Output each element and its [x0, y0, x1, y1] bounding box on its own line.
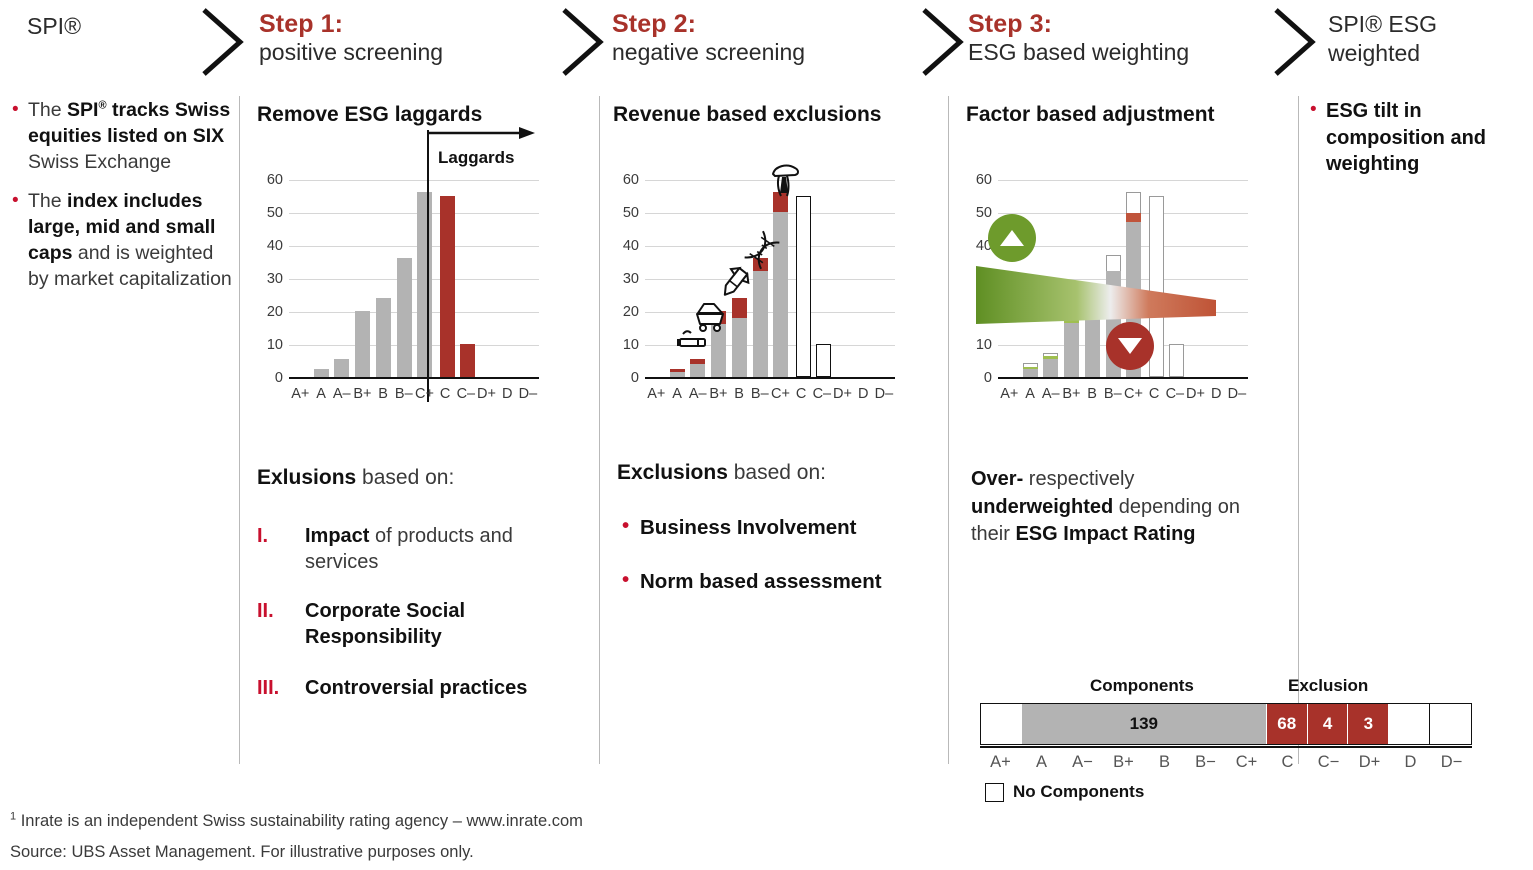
step2-exclusions-rest: based on: [728, 461, 826, 484]
chart1-ytick-60: 60 [257, 172, 283, 188]
chart3-x-axis [998, 377, 1248, 379]
legend-exclusion-label: Exclusion [1288, 676, 1368, 696]
chart1-bar-C+ [417, 192, 432, 377]
seg-retained [732, 318, 747, 377]
chart2-x-axis [645, 377, 895, 379]
footnote-text: Inrate is an independent Swiss sustainab… [16, 812, 583, 830]
step2-bullet-list: Business Involvement Norm based assessme… [620, 516, 920, 624]
chart3-ytick-50: 50 [966, 205, 992, 221]
chart3-ytick-10: 10 [966, 337, 992, 353]
intro-bullet-list: The SPI® tracks Swiss equities listed on… [10, 98, 232, 305]
seg-base [1023, 369, 1038, 377]
chevron-right-icon-3 [916, 6, 972, 78]
spi-title: SPI® [27, 12, 81, 41]
chart1-xlabel-C: C [435, 386, 456, 402]
legend-bar: 139 68 4 3 [980, 703, 1472, 745]
chart3-xlabel-B-: B– [1102, 386, 1123, 402]
chart1-xlabel-A+: A+ [290, 386, 311, 402]
legend-xlabel-D-: D− [1431, 753, 1472, 772]
chart1-x-axis [289, 377, 539, 379]
result-bullet-1: ESG tilt in composition and weighting [1308, 98, 1523, 178]
chart2-ytick-20: 20 [613, 304, 639, 320]
item-bold: Impact [305, 525, 369, 547]
underweight-down-arrow [1106, 322, 1154, 370]
step1-exclusions-rest: based on: [356, 466, 454, 489]
roman-numeral: III. [257, 675, 279, 701]
chart2-bar-A [670, 369, 685, 377]
legend-xlabel-D+: D+ [1349, 753, 1390, 772]
chart3-xlabel-D-: D– [1227, 386, 1248, 402]
result-title-line1: SPI® ESG [1328, 10, 1437, 39]
chart3-xlabel-C+: C+ [1123, 386, 1144, 402]
chart2-xlabel-D: D [853, 386, 874, 402]
chart2-x-labels: A+AA–B+BB–C+CC–D+DD– [646, 386, 894, 402]
nuclear-explosion-icon [765, 160, 805, 205]
desc-part-over: Over- [971, 468, 1023, 490]
chart1-xlabel-D-: D– [518, 386, 539, 402]
seg-excluded [670, 369, 685, 372]
no-components-swatch [985, 783, 1004, 802]
result-title-line2: weighted [1328, 39, 1437, 68]
chart2-xlabel-C: C [791, 386, 812, 402]
overweight-up-arrow [988, 214, 1036, 262]
legend-xlabel-B: B [1144, 753, 1185, 772]
chart3-x-labels: A+AA–B+BB–C+CC–D+DD– [999, 386, 1247, 402]
chart3-ytick-0: 0 [966, 370, 992, 386]
divider-2 [599, 96, 600, 764]
legend-baseline [980, 746, 1472, 748]
laggards-arrow-icon [427, 126, 537, 145]
col-header-step1: Step 1: positive screening [259, 10, 443, 67]
chart2-xlabel-C-: C– [812, 386, 833, 402]
col-header-step3: Step 3: ESG based weighting [968, 10, 1189, 67]
chart3-xlabel-B: B [1082, 386, 1103, 402]
legend-xlabel-C: C [1267, 753, 1308, 772]
chart2-ytick-0: 0 [613, 370, 639, 386]
legend-components-label: Components [1090, 676, 1194, 696]
chart2-bar-A- [690, 359, 705, 377]
seg-overweight [1043, 356, 1058, 359]
step2-subtitle: negative screening [612, 39, 805, 67]
legend-xlabel-B-: B− [1185, 753, 1226, 772]
seg-excluded [690, 359, 705, 364]
chart2-bar-C+ [773, 192, 788, 377]
legend-xlabel-A+: A+ [980, 753, 1021, 772]
chart-revenue-based-exclusions: 60 50 40 30 20 10 0 [613, 170, 898, 405]
chart2-bar-C- [816, 344, 831, 377]
footer-line-2: Source: UBS Asset Management. For illust… [10, 837, 710, 868]
step3-title: Step 3: [968, 10, 1189, 38]
chart2-ytick-40: 40 [613, 238, 639, 254]
roman-numeral: I. [257, 523, 268, 549]
step1-exclusions-heading: Exlusions based on: [257, 466, 454, 490]
divider-1 [239, 96, 240, 764]
step2-title: Step 2: [612, 10, 805, 38]
chart3-xlabel-A+: A+ [999, 386, 1020, 402]
chart3-bar-A- [1043, 356, 1058, 377]
intro-bullet-1: The SPI® tracks Swiss equities listed on… [10, 98, 232, 176]
chart1-xlabel-C+: C+ [414, 386, 435, 402]
chart1-ytick-10: 10 [257, 337, 283, 353]
legend-value-components: 139 [1130, 714, 1158, 734]
list-item: Norm based assessment [620, 570, 920, 594]
legend-no-components: No Components [985, 782, 1144, 802]
chart1-xlabel-B-: B– [393, 386, 414, 402]
item-bold: Controversial practices [305, 677, 527, 699]
chart1-xlabel-C-: C– [456, 386, 477, 402]
chart1-bar-C [440, 196, 455, 377]
chart2-xlabel-D+: D+ [832, 386, 853, 402]
laggards-threshold-line [427, 130, 429, 402]
legend-xlabel-D: D [1390, 753, 1431, 772]
legend-cell-C-: 4 [1308, 704, 1349, 744]
chart1-bar-B+ [355, 311, 370, 377]
seg-retained [670, 372, 685, 377]
chart2-xlabel-A: A [667, 386, 688, 402]
chart1-bar-B [376, 298, 391, 377]
chart3-bar-A [1023, 367, 1038, 377]
chart2-ytick-10: 10 [613, 337, 639, 353]
result-bullet-list: ESG tilt in composition and weighting [1308, 98, 1523, 191]
slide-root: SPI® Step 1: positive screening Step 2: … [0, 0, 1533, 870]
col-header-step2: Step 2: negative screening [612, 10, 805, 67]
no-components-label: No Components [1013, 782, 1144, 802]
legend-cell-D+: 3 [1348, 704, 1389, 744]
chart1-xlabel-D: D [497, 386, 518, 402]
chart1-bar-B- [397, 258, 412, 377]
chart3-xlabel-D+: D+ [1185, 386, 1206, 402]
chart1-bar-A [314, 369, 329, 377]
chart1-x-labels: A+AA–B+BB–C+CC–D+DD– [290, 386, 538, 402]
step1-title: Step 1: [259, 10, 443, 38]
col-header-spi: SPI® [27, 12, 81, 41]
seg-overweight [1023, 367, 1038, 370]
item-bold: Corporate Social Responsibility [305, 600, 465, 648]
chart1-ytick-30: 30 [257, 271, 283, 287]
desc-part-underweighted: underweighted [971, 496, 1113, 518]
chart2-bar-C [796, 196, 811, 377]
seg-retained [690, 364, 705, 377]
chart3-outline-C- [1169, 344, 1184, 377]
footer-line-1: 1 Inrate is an independent Swiss sustain… [10, 806, 710, 837]
roman-numeral: II. [257, 598, 274, 624]
chart1-xlabel-D+: D+ [476, 386, 497, 402]
chart2-xlabel-C+: C+ [770, 386, 791, 402]
step3-panel-heading: Factor based adjustment [966, 103, 1215, 127]
list-item: II. Corporate Social Responsibility [257, 598, 587, 651]
step2-panel-heading: Revenue based exclusions [613, 103, 881, 127]
list-item: Business Involvement [620, 516, 920, 540]
chart1-ytick-40: 40 [257, 238, 283, 254]
footer-notes: 1 Inrate is an independent Swiss sustain… [10, 806, 710, 869]
chart2-xlabel-A+: A+ [646, 386, 667, 402]
chevron-right-icon-4 [1268, 6, 1324, 78]
legend-value-C: 68 [1277, 714, 1296, 734]
chart3-xlabel-B+: B+ [1061, 386, 1082, 402]
col-header-result: SPI® ESG weighted [1328, 10, 1437, 68]
step1-subtitle: positive screening [259, 39, 443, 67]
step2-exclusions-heading: Exclusions based on: [617, 461, 826, 485]
legend-value-D+: 3 [1364, 714, 1373, 734]
chart1-bar-C- [460, 344, 475, 377]
chart2-xlabel-A-: A– [687, 386, 708, 402]
chart3-xlabel-C-: C– [1165, 386, 1186, 402]
chart2-ytick-50: 50 [613, 205, 639, 221]
step1-exclusions-bold: Exlusions [257, 466, 356, 489]
chart2-ytick-30: 30 [613, 271, 639, 287]
legend-cell-C: 68 [1267, 704, 1308, 744]
step3-description: Over- respectively underweighted dependi… [971, 466, 1271, 549]
chart1-ytick-50: 50 [257, 205, 283, 221]
legend-cell-components: 139 [1022, 704, 1267, 744]
chart1-ytick-20: 20 [257, 304, 283, 320]
chart2-xlabel-B-: B– [749, 386, 770, 402]
chart1-xlabel-B: B [373, 386, 394, 402]
legend-x-labels: A+ A A− B+ B B− C+ C C− D+ D D− [980, 753, 1472, 772]
chart2-xlabel-D-: D– [874, 386, 895, 402]
legend-value-C-: 4 [1323, 714, 1332, 734]
list-item: I. Impact of products and services [257, 523, 587, 576]
legend-cell-D- [1430, 704, 1471, 744]
chart2-ytick-60: 60 [613, 172, 639, 188]
gmo-dna-icon [742, 230, 782, 275]
item-label: Business Involvement [640, 516, 856, 539]
legend-xlabel-C-: C− [1308, 753, 1349, 772]
chart3-xlabel-D: D [1206, 386, 1227, 402]
chevron-right-icon-2 [556, 6, 612, 78]
legend-xlabel-B+: B+ [1103, 753, 1144, 772]
chart1-xlabel-A-: A– [331, 386, 352, 402]
chart3-xlabel-C: C [1144, 386, 1165, 402]
chart1-ytick-0: 0 [257, 370, 283, 386]
seg-base [1064, 323, 1079, 377]
desc-part-rating: ESG Impact Rating [1015, 523, 1195, 545]
result-bullet-bold: ESG [1326, 100, 1368, 122]
seg-base [1043, 359, 1058, 377]
list-item: III. Controversial practices [257, 675, 587, 701]
legend-cell-A+ [981, 704, 1022, 744]
step2-exclusions-bold: Exclusions [617, 461, 728, 484]
desc-part-1: respectively [1023, 468, 1134, 490]
step1-roman-list: I. Impact of products and services II. C… [257, 523, 587, 723]
chart1-xlabel-A: A [311, 386, 332, 402]
legend-xlabel-C+: C+ [1226, 753, 1267, 772]
chart3-xlabel-A: A [1020, 386, 1041, 402]
intro-bullet-2: The index includes large, mid and small … [10, 189, 232, 293]
chevron-right-icon-1 [196, 6, 252, 78]
chart1-xlabel-B+: B+ [352, 386, 373, 402]
divider-4 [1298, 96, 1299, 764]
step1-panel-heading: Remove ESG laggards [257, 103, 482, 127]
item-label: Norm based assessment [640, 570, 882, 593]
legend-cell-D [1389, 704, 1430, 744]
step3-subtitle: ESG based weighting [968, 39, 1189, 67]
chart3-xlabel-A-: A– [1040, 386, 1061, 402]
chart2-xlabel-B+: B+ [708, 386, 729, 402]
chart1-bar-A- [334, 359, 349, 377]
esg-weighting-gradient-band [976, 264, 1216, 331]
laggards-label: Laggards [438, 148, 515, 168]
seg-underweight [1126, 213, 1141, 222]
chart2-xlabel-B: B [729, 386, 750, 402]
legend-xlabel-A-: A− [1062, 753, 1103, 772]
chart-remove-esg-laggards: 60 50 40 30 20 10 0 [257, 170, 542, 405]
chart3-ytick-60: 60 [966, 172, 992, 188]
divider-3 [948, 96, 949, 764]
legend-xlabel-A: A [1021, 753, 1062, 772]
chart-factor-based-adjustment: 60 50 40 30 20 10 0 [966, 170, 1251, 405]
